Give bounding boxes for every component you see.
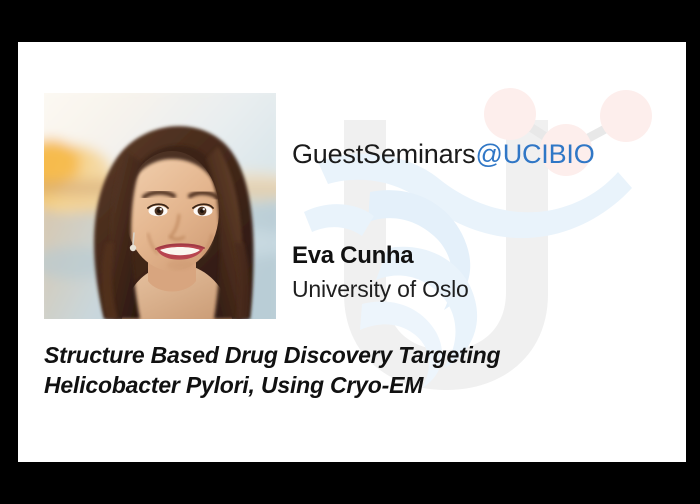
speaker-name: Eva Cunha bbox=[292, 241, 672, 271]
talk-title-line-2: Helicobacter Pylori, Using Cryo-EM bbox=[44, 370, 654, 400]
series-label: GuestSeminars bbox=[292, 139, 475, 169]
speaker-affiliation: University of Oslo bbox=[292, 274, 672, 304]
talk-title: Structure Based Drug Discovery Targeting… bbox=[44, 340, 654, 400]
poster-card: GuestSeminars@UCIBIO Eva Cunha Universit… bbox=[18, 42, 686, 462]
speaker-portrait-photo bbox=[44, 93, 276, 319]
speaker-info-block: Eva Cunha University of Oslo bbox=[292, 241, 672, 304]
poster-frame: GuestSeminars@UCIBIO Eva Cunha Universit… bbox=[0, 0, 700, 504]
seminar-series-title: GuestSeminars@UCIBIO bbox=[292, 138, 672, 170]
brand-label: @UCIBIO bbox=[475, 139, 594, 169]
talk-title-line-1: Structure Based Drug Discovery Targeting bbox=[44, 340, 654, 370]
seminar-series-header: GuestSeminars@UCIBIO bbox=[292, 138, 672, 170]
